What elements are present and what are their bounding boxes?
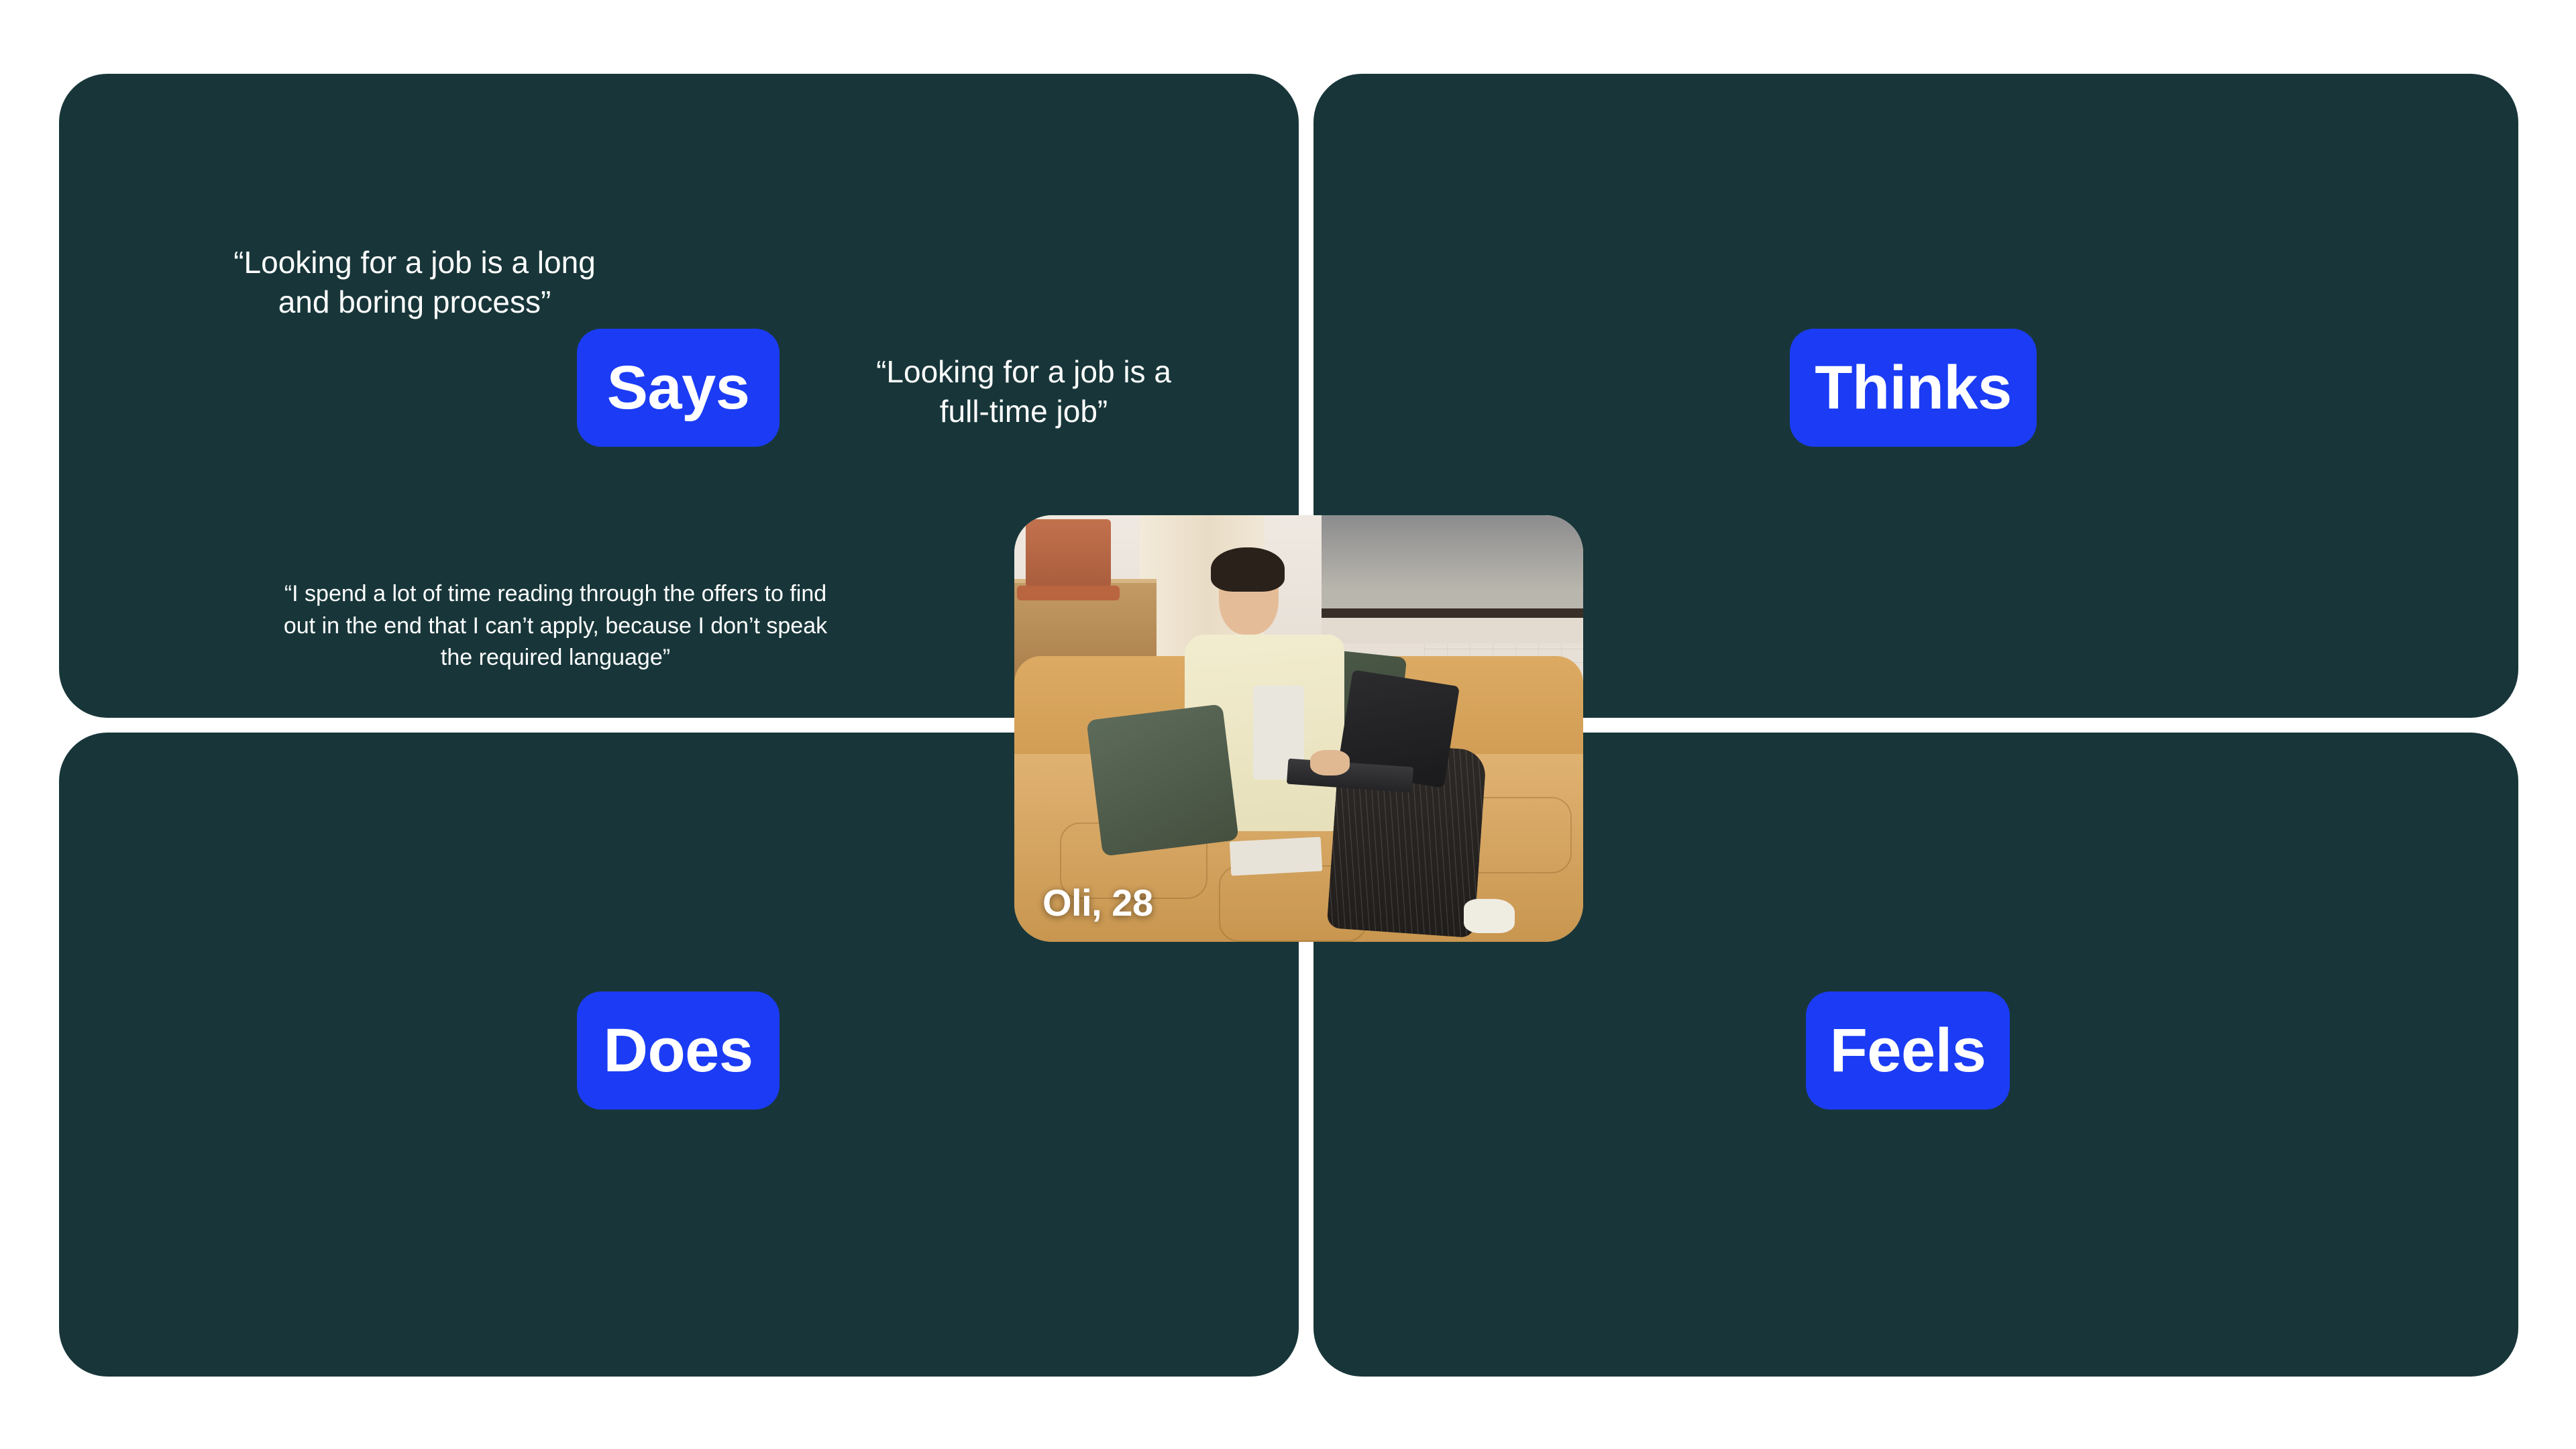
photo-person-hair [1211,547,1285,592]
badge-does[interactable]: Does [577,991,780,1110]
photo-terracotta-pot [1026,519,1111,592]
empathy-map-board: “Looking for a job is a long and boring … [0,0,2576,1449]
photo-pot-dish [1017,586,1120,600]
note-says-1: “Looking for a job is a long and boring … [180,243,649,322]
note-says-2: “Looking for a job is a full-time job” [816,352,1232,431]
note-says-3: “I spend a lot of time reading through t… [231,578,880,674]
persona-photo-card: Oli, 28 [1014,515,1583,942]
badge-feels[interactable]: Feels [1806,991,2010,1110]
photo-notebook [1230,837,1322,876]
photo-green-pillow-left [1086,704,1238,856]
persona-name-label: Oli, 28 [1042,881,1153,924]
photo-sneaker [1464,899,1515,933]
badge-says[interactable]: Says [577,329,780,447]
persona-photo [1014,515,1583,942]
photo-person-hand [1310,750,1350,775]
photo-window [1322,515,1583,618]
photo-windowsill [1322,618,1583,643]
badge-thinks[interactable]: Thinks [1790,329,2037,447]
